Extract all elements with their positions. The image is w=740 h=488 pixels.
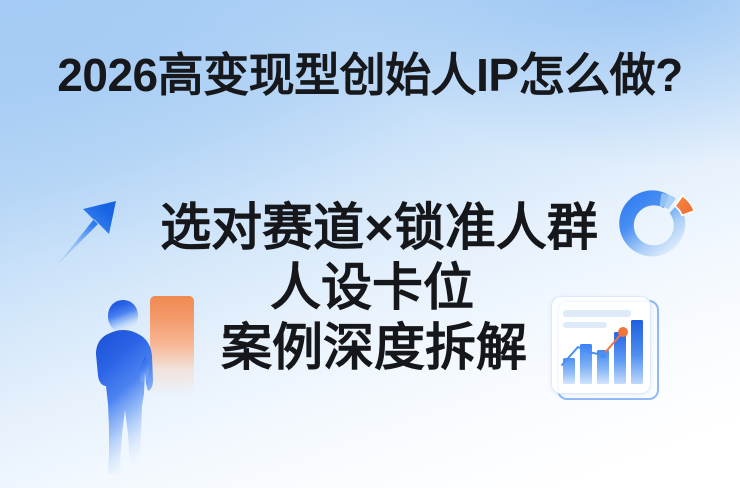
- headline-line-2: 人设卡位: [0, 258, 740, 318]
- headline-block: 选对赛道×锁准人群 人设卡位 案例深度拆解: [0, 198, 740, 378]
- headline-line-3: 案例深度拆解: [0, 318, 740, 378]
- poster-canvas: 2026高变现型创始人IP怎么做?: [0, 0, 740, 488]
- headline-line-1: 选对赛道×锁准人群: [0, 198, 740, 258]
- page-title: 2026高变现型创始人IP怎么做?: [0, 52, 740, 98]
